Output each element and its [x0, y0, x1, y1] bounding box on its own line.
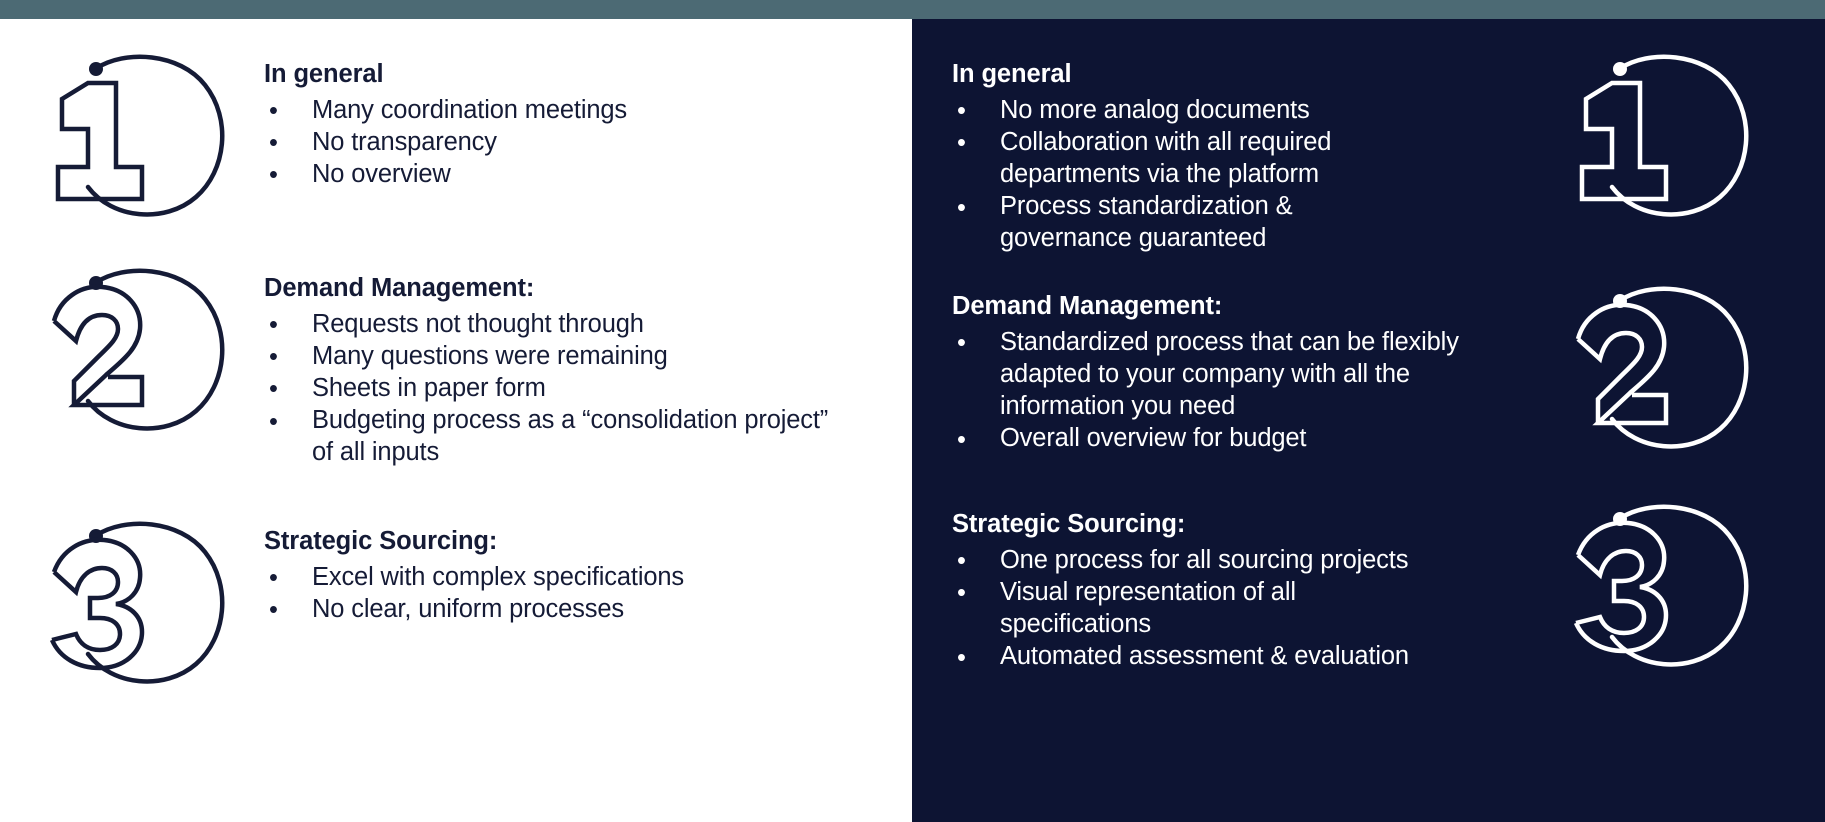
list-item: •Budgeting process as a “consolidation p…	[264, 404, 850, 468]
numbered-circle-2-icon	[1574, 279, 1764, 459]
left-section-3-text: Strategic Sourcing: •Excel with complex …	[264, 514, 850, 625]
list-item-text: No overview	[312, 160, 451, 188]
bullet-list: •Excel with complex specifications •No c…	[264, 561, 850, 625]
list-item: •No overview	[264, 158, 850, 190]
bullet-icon: •	[269, 406, 278, 438]
bullet-icon: •	[957, 127, 966, 159]
right-section-1-text: In general •No more analog documents •Co…	[912, 47, 1558, 254]
list-item-text: Collaboration with all required departme…	[1000, 128, 1331, 188]
left-section-2: Demand Management: •Requests not thought…	[50, 261, 850, 468]
bullet-icon: •	[957, 642, 966, 674]
list-item: •Collaboration with all required departm…	[952, 126, 1452, 190]
list-item-text: Requests not thought through	[312, 310, 644, 338]
left-section-1-text: In general •Many coordination meetings •…	[264, 47, 850, 190]
list-item: •Process standardization & governance gu…	[952, 190, 1422, 254]
left-section-3: Strategic Sourcing: •Excel with complex …	[50, 514, 850, 694]
bullet-icon: •	[269, 159, 278, 191]
right-section-2: Demand Management: •Standardized process…	[912, 279, 1792, 459]
left-panel: In general •Many coordination meetings •…	[0, 19, 912, 822]
bullet-icon: •	[269, 309, 278, 341]
numbered-circle-3-icon	[1574, 497, 1764, 677]
list-item: •No clear, uniform processes	[264, 593, 850, 625]
list-item: •Requests not thought through	[264, 308, 850, 340]
bullet-icon: •	[957, 424, 966, 456]
bullet-icon: •	[957, 95, 966, 127]
bullet-icon: •	[957, 327, 966, 359]
section-heading: In general	[952, 59, 1558, 91]
numbered-circle-3-icon	[50, 514, 240, 694]
list-item: •No transparency	[264, 126, 850, 158]
list-item-text: No transparency	[312, 128, 497, 156]
list-item-text: No clear, uniform processes	[312, 595, 624, 623]
list-item-text: Many coordination meetings	[312, 96, 627, 124]
list-item-text: Standardized process that can be flexibl…	[1000, 328, 1459, 420]
list-item: •Excel with complex specifications	[264, 561, 850, 593]
bullet-icon: •	[269, 373, 278, 405]
list-item: •Automated assessment & evaluation	[952, 640, 1558, 672]
list-item: •Standardized process that can be flexib…	[952, 326, 1462, 422]
list-item-text: Visual representation of all specificati…	[1000, 578, 1296, 638]
list-item-text: Many questions were remaining	[312, 342, 668, 370]
list-item: •Sheets in paper form	[264, 372, 850, 404]
right-section-2-text: Demand Management: •Standardized process…	[912, 279, 1558, 454]
bullet-icon: •	[957, 545, 966, 577]
right-section-3-text: Strategic Sourcing: •One process for all…	[912, 497, 1558, 672]
slide-canvas: In general •Many coordination meetings •…	[0, 0, 1825, 822]
list-item-text: Automated assessment & evaluation	[1000, 642, 1409, 670]
section-heading: Demand Management:	[952, 291, 1558, 323]
bullet-list: •Standardized process that can be flexib…	[952, 326, 1558, 455]
list-item-text: Sheets in paper form	[312, 374, 546, 402]
bullet-icon: •	[957, 192, 966, 224]
numbered-circle-1-icon	[1574, 47, 1764, 227]
list-item-text: Process standardization & governance gua…	[1000, 192, 1293, 252]
right-section-3: Strategic Sourcing: •One process for all…	[912, 497, 1792, 677]
list-item: •Overall overview for budget	[952, 422, 1558, 454]
section-heading: Demand Management:	[264, 273, 850, 305]
bullet-icon: •	[957, 577, 966, 609]
bullet-icon: •	[269, 95, 278, 127]
left-section-1: In general •Many coordination meetings •…	[50, 47, 850, 227]
bullet-list: •No more analog documents •Collaboration…	[952, 94, 1558, 255]
section-heading: In general	[264, 59, 850, 91]
list-item: •No more analog documents	[952, 94, 1558, 126]
right-panel: In general •No more analog documents •Co…	[912, 19, 1825, 822]
bullet-icon: •	[269, 341, 278, 373]
list-item: •Visual representation of all specificat…	[952, 576, 1372, 640]
section-heading: Strategic Sourcing:	[952, 509, 1558, 541]
bullet-list: •One process for all sourcing projects •…	[952, 544, 1558, 673]
list-item: •Many questions were remaining	[264, 340, 850, 372]
numbered-circle-2-icon	[50, 261, 240, 441]
list-item: •One process for all sourcing projects	[952, 544, 1558, 576]
bullet-list: •Many coordination meetings •No transpar…	[264, 94, 850, 190]
list-item-text: Overall overview for budget	[1000, 424, 1306, 452]
list-item-text: One process for all sourcing projects	[1000, 546, 1408, 574]
left-section-2-text: Demand Management: •Requests not thought…	[264, 261, 850, 468]
numbered-circle-1-icon	[50, 47, 240, 227]
bullet-icon: •	[269, 562, 278, 594]
bullet-icon: •	[269, 594, 278, 626]
right-section-1: In general •No more analog documents •Co…	[912, 47, 1792, 254]
list-item-text: Budgeting process as a “consolidation pr…	[312, 406, 828, 466]
top-accent-bar	[0, 0, 1825, 19]
list-item: •Many coordination meetings	[264, 94, 850, 126]
bullet-icon: •	[269, 127, 278, 159]
bullet-list: •Requests not thought through •Many ques…	[264, 308, 850, 469]
list-item-text: Excel with complex specifications	[312, 563, 684, 591]
list-item-text: No more analog documents	[1000, 96, 1310, 124]
section-heading: Strategic Sourcing:	[264, 526, 850, 558]
